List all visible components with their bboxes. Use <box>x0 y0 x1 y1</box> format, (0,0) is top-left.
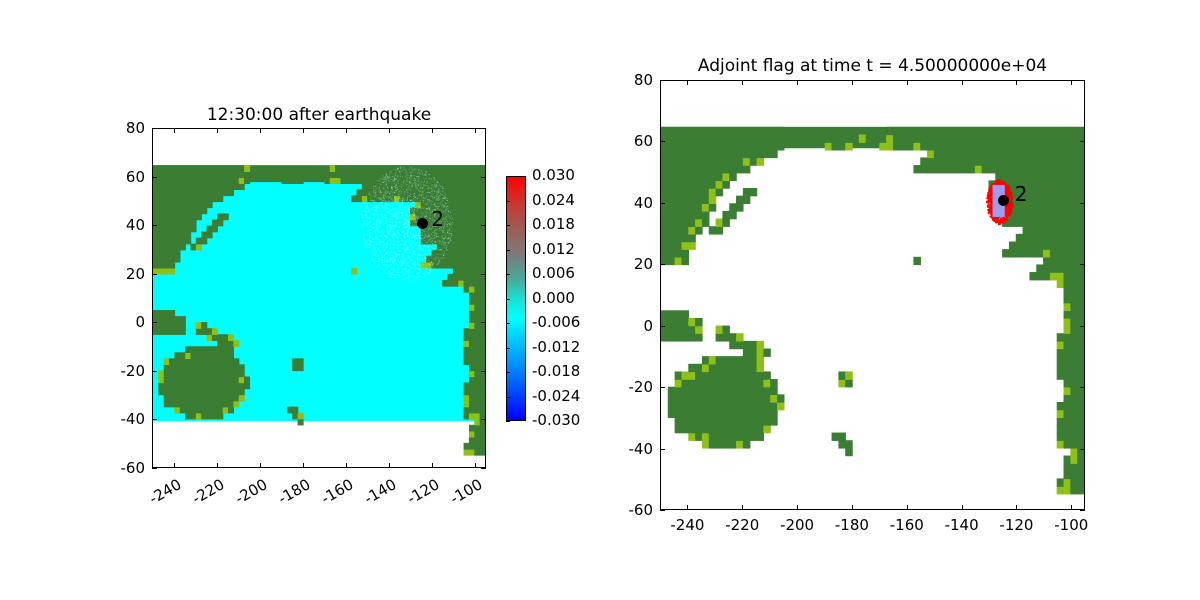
y-tick-label: -40 <box>100 410 145 428</box>
left-panel-title: 12:30:00 after earthquake <box>152 105 486 125</box>
y-tick-label: 80 <box>608 71 653 89</box>
x-tick-label: -180 <box>822 516 882 534</box>
gauge-label-2-left: 2 <box>431 207 444 231</box>
colorbar-tick-mark <box>506 323 510 324</box>
x-tick-mark-top <box>797 80 798 85</box>
y-tick-mark-right <box>481 322 486 323</box>
x-tick-mark <box>907 505 908 510</box>
y-tick-mark-right <box>481 274 486 275</box>
y-tick-mark-right <box>481 419 486 420</box>
x-tick-mark <box>475 463 476 468</box>
y-tick-mark <box>152 274 157 275</box>
x-tick-mark-top <box>687 80 688 85</box>
x-tick-mark <box>1071 505 1072 510</box>
y-tick-mark <box>660 449 665 450</box>
colorbar-tick-label: 0.024 <box>532 191 575 209</box>
x-tick-mark <box>742 505 743 510</box>
y-tick-label: 40 <box>608 194 653 212</box>
x-tick-mark-top <box>303 128 304 133</box>
y-tick-label: 20 <box>608 255 653 273</box>
x-tick-mark-top <box>852 80 853 85</box>
x-tick-label: -140 <box>345 475 399 517</box>
colorbar-tick-label: 0.000 <box>532 289 575 307</box>
y-tick-mark <box>660 80 665 81</box>
gauge-marker-2-left <box>417 218 428 229</box>
x-tick-mark-top <box>475 128 476 133</box>
right-map-raster <box>661 81 1084 509</box>
colorbar-tick-label: 0.006 <box>532 264 575 282</box>
colorbar-tick-label: 0.012 <box>532 240 575 258</box>
x-tick-mark <box>303 463 304 468</box>
y-tick-label: 40 <box>100 216 145 234</box>
y-tick-mark-right <box>481 128 486 129</box>
right-panel-title: Adjoint flag at time t = 4.50000000e+04 <box>660 56 1085 76</box>
y-tick-mark-right <box>1080 203 1085 204</box>
y-tick-mark-right <box>1080 80 1085 81</box>
y-tick-label: -40 <box>608 440 653 458</box>
x-tick-mark-top <box>260 128 261 133</box>
x-tick-label: -240 <box>130 475 184 517</box>
x-tick-mark <box>1016 505 1017 510</box>
y-tick-label: -60 <box>608 501 653 519</box>
y-tick-mark <box>152 128 157 129</box>
x-tick-mark-top <box>907 80 908 85</box>
y-tick-mark <box>152 322 157 323</box>
x-tick-mark-top <box>742 80 743 85</box>
colorbar-tick-label: 0.030 <box>532 166 575 184</box>
colorbar-tick-mark <box>506 299 510 300</box>
x-tick-label: -240 <box>657 516 717 534</box>
x-tick-label: -180 <box>259 475 313 517</box>
colorbar-tick-label: -0.030 <box>532 411 580 429</box>
y-tick-label: 60 <box>608 132 653 150</box>
figure-canvas: 12:30:00 after earthquake 2 -240-220-200… <box>0 0 1200 600</box>
surface-elevation-axes: 2 <box>152 128 486 468</box>
x-tick-mark-top <box>389 128 390 133</box>
left-map-raster <box>153 129 485 467</box>
colorbar-tick-mark <box>506 274 510 275</box>
y-tick-mark <box>660 326 665 327</box>
x-tick-mark <box>260 463 261 468</box>
x-tick-mark-top <box>217 128 218 133</box>
x-tick-label: -140 <box>932 516 992 534</box>
y-tick-mark <box>152 468 157 469</box>
y-tick-mark-right <box>1080 141 1085 142</box>
y-tick-mark <box>152 177 157 178</box>
y-tick-label: 0 <box>608 317 653 335</box>
x-tick-mark-top <box>1016 80 1017 85</box>
y-tick-label: 80 <box>100 119 145 137</box>
y-tick-mark-right <box>481 225 486 226</box>
y-tick-mark-right <box>1080 387 1085 388</box>
x-tick-label: -120 <box>389 475 443 517</box>
x-tick-mark <box>797 505 798 510</box>
colorbar-tick-label: 0.018 <box>532 215 575 233</box>
y-tick-label: 0 <box>100 313 145 331</box>
y-tick-mark <box>660 203 665 204</box>
y-tick-mark-right <box>1080 449 1085 450</box>
x-tick-mark-top <box>346 128 347 133</box>
colorbar-tick-label: -0.024 <box>532 387 580 405</box>
y-tick-mark-right <box>481 177 486 178</box>
x-tick-label: -160 <box>877 516 937 534</box>
y-tick-mark <box>152 419 157 420</box>
y-tick-mark <box>660 510 665 511</box>
y-tick-label: -20 <box>100 362 145 380</box>
colorbar-tick-label: -0.012 <box>532 338 580 356</box>
x-tick-label: -200 <box>767 516 827 534</box>
x-tick-mark <box>687 505 688 510</box>
colorbar-tick-mark <box>506 348 510 349</box>
colorbar-tick-mark <box>506 397 510 398</box>
x-tick-label: -200 <box>216 475 270 517</box>
y-tick-mark-right <box>1080 264 1085 265</box>
x-tick-mark <box>346 463 347 468</box>
x-tick-label: -160 <box>302 475 356 517</box>
colorbar-tick-mark <box>506 201 510 202</box>
x-tick-mark <box>174 463 175 468</box>
x-tick-mark-top <box>432 128 433 133</box>
y-tick-label: 60 <box>100 168 145 186</box>
x-tick-mark <box>962 505 963 510</box>
x-tick-mark-top <box>174 128 175 133</box>
colorbar-tick-mark <box>506 421 510 422</box>
x-tick-mark <box>852 505 853 510</box>
x-tick-mark-top <box>1071 80 1072 85</box>
gauge-label-2-right: 2 <box>1015 182 1028 206</box>
y-tick-label: -20 <box>608 378 653 396</box>
y-tick-label: 20 <box>100 265 145 283</box>
y-tick-mark-right <box>1080 510 1085 511</box>
x-tick-mark <box>432 463 433 468</box>
colorbar-tick-mark <box>506 225 510 226</box>
y-tick-mark <box>660 264 665 265</box>
x-tick-label: -220 <box>712 516 772 534</box>
y-tick-mark <box>660 141 665 142</box>
colorbar-tick-mark <box>506 250 510 251</box>
x-tick-label: -220 <box>173 475 227 517</box>
adjoint-flag-axes: 2 <box>660 80 1085 510</box>
colorbar-tick-label: -0.006 <box>532 313 580 331</box>
y-tick-mark-right <box>1080 326 1085 327</box>
colorbar-tick-label: -0.018 <box>532 362 580 380</box>
y-tick-mark <box>660 387 665 388</box>
x-tick-mark <box>217 463 218 468</box>
y-tick-label: -60 <box>100 459 145 477</box>
colorbar-tick-mark <box>506 372 510 373</box>
x-tick-mark-top <box>962 80 963 85</box>
y-tick-mark <box>152 371 157 372</box>
y-tick-mark-right <box>481 468 486 469</box>
x-tick-label: -120 <box>986 516 1046 534</box>
x-tick-label: -100 <box>432 475 486 517</box>
y-tick-mark <box>152 225 157 226</box>
x-tick-mark <box>389 463 390 468</box>
x-tick-label: -100 <box>1041 516 1101 534</box>
colorbar-tick-mark <box>506 176 510 177</box>
y-tick-mark-right <box>481 371 486 372</box>
